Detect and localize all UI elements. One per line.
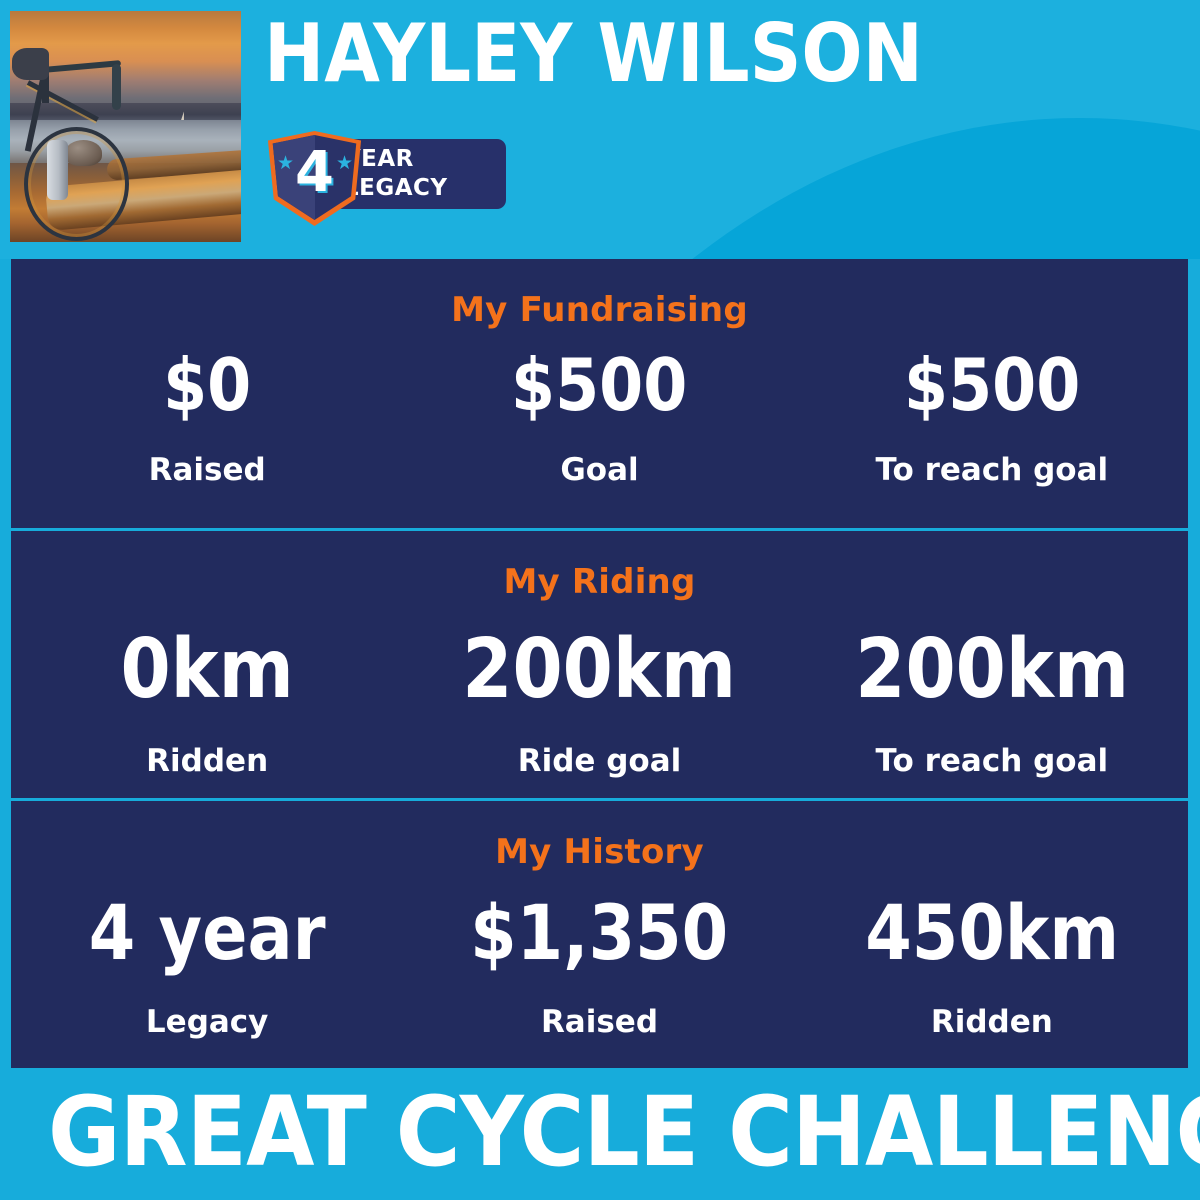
stat-label: Legacy — [11, 1007, 403, 1038]
section-fundraising: My Fundraising $0 Raised $500 Goal $500 … — [11, 259, 1188, 528]
stat-fundraising-goal: $500 Goal — [403, 349, 795, 486]
stat-label: Ridden — [796, 1007, 1188, 1038]
stats-panel: My Fundraising $0 Raised $500 Goal $500 … — [11, 259, 1188, 1068]
poster-footer: GREAT CYCLE CHALLENGE — [0, 1068, 1200, 1200]
section-history: My History 4 year Legacy $1,350 Raised 4… — [11, 798, 1188, 1065]
photo-bicycle-brake-hood — [112, 64, 121, 110]
stat-fundraising-raised: $0 Raised — [11, 349, 403, 486]
stat-riding-ridden: 0km Ridden — [11, 629, 403, 777]
photo-bicycle-bottle — [47, 140, 68, 200]
stat-value: 0km — [35, 629, 380, 711]
photo-bicycle-wheel — [24, 127, 129, 241]
stat-value: $500 — [427, 349, 772, 421]
brand-wordmark: GREAT CYCLE CHALLENGE — [48, 1084, 1152, 1180]
stat-value: 200km — [819, 629, 1164, 711]
section-title-fundraising: My Fundraising — [11, 259, 1188, 327]
section-title-riding: My Riding — [11, 531, 1188, 599]
stat-value: 450km — [819, 895, 1164, 971]
stat-value: $1,350 — [427, 895, 772, 971]
rider-avatar-photo — [10, 11, 241, 242]
stat-history-raised: $1,350 Raised — [403, 895, 795, 1038]
stat-history-ridden: 450km Ridden — [796, 895, 1188, 1038]
stat-history-legacy: 4 year Legacy — [11, 895, 403, 1038]
shield-icon: ★ ★ 4 — [266, 131, 363, 226]
legacy-badge: YEAR LEGACY ★ ★ 4 — [266, 131, 506, 226]
fundraiser-stats-poster: HAYLEY WILSON YEAR LEGACY ★ ★ 4 My Fundr… — [0, 0, 1200, 1200]
stat-row-riding: 0km Ridden 200km Ride goal 200km To reac… — [11, 629, 1188, 777]
stat-label: To reach goal — [796, 746, 1188, 777]
stat-riding-ride-goal: 200km Ride goal — [403, 629, 795, 777]
stat-value: 200km — [427, 629, 772, 711]
photo-bicycle-saddle — [12, 48, 49, 80]
legacy-year-number: 4 — [266, 145, 363, 201]
stat-label: Ride goal — [403, 746, 795, 777]
rider-name: HAYLEY WILSON — [264, 14, 923, 94]
section-riding: My Riding 0km Ridden 200km Ride goal 200… — [11, 528, 1188, 798]
section-title-history: My History — [11, 801, 1188, 869]
stat-value: $500 — [819, 349, 1164, 421]
stat-label: Goal — [403, 455, 795, 486]
stat-label: Ridden — [11, 746, 403, 777]
stat-riding-to-reach-goal: 200km To reach goal — [796, 629, 1188, 777]
stat-value: $0 — [35, 349, 380, 421]
stat-label: To reach goal — [796, 455, 1188, 486]
stat-value: 4 year — [35, 895, 380, 971]
poster-header: HAYLEY WILSON YEAR LEGACY ★ ★ 4 — [0, 0, 1200, 259]
stat-label: Raised — [403, 1007, 795, 1038]
stat-row-history: 4 year Legacy $1,350 Raised 450km Ridden — [11, 895, 1188, 1038]
stat-fundraising-to-reach-goal: $500 To reach goal — [796, 349, 1188, 486]
stat-label: Raised — [11, 455, 403, 486]
stat-row-fundraising: $0 Raised $500 Goal $500 To reach goal — [11, 349, 1188, 486]
